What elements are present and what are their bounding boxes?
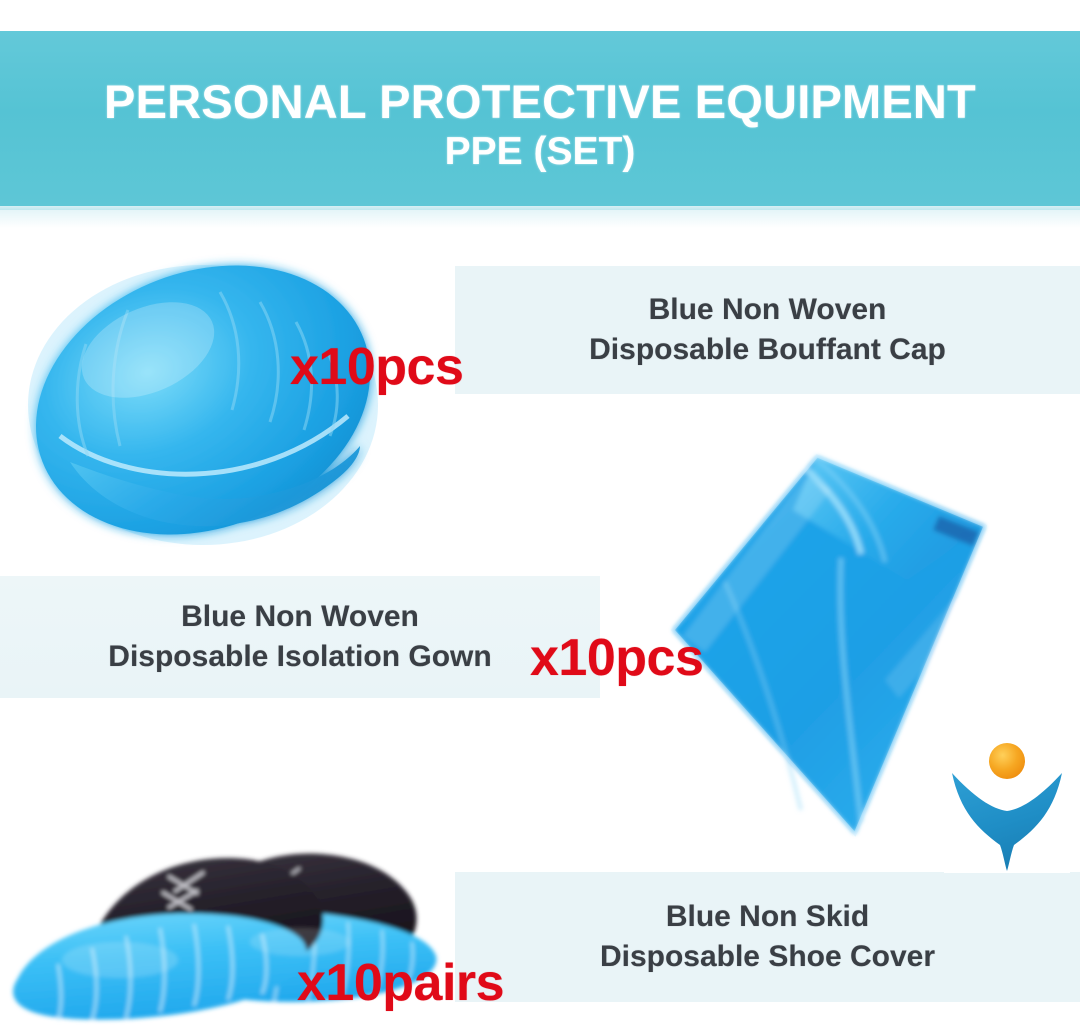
- bouffant-cap-image: [8, 240, 408, 570]
- banner-subtitle: PPE (SET): [445, 131, 636, 174]
- isolation-gown-label-line1: Blue Non Woven: [181, 597, 419, 637]
- shoe-cover-quantity: x10pairs: [297, 953, 504, 1013]
- bouffant-cap-quantity: x10pcs: [290, 337, 463, 397]
- isolation-gown-label-line2: Disposable Isolation Gown: [108, 637, 491, 677]
- bouffant-cap-label-line1: Blue Non Woven: [649, 290, 887, 330]
- banner-title: PERSONAL PROTECTIVE EQUIPMENT: [104, 77, 976, 127]
- brand-logo-icon: [944, 733, 1070, 873]
- bouffant-cap-label-panel: Blue Non Woven Disposable Bouffant Cap: [455, 266, 1080, 394]
- shoe-cover-label-line2: Disposable Shoe Cover: [600, 937, 935, 977]
- isolation-gown-label-panel: Blue Non Woven Disposable Isolation Gown: [0, 576, 600, 698]
- ppe-set-poster: PERSONAL PROTECTIVE EQUIPMENT PPE (SET): [0, 0, 1080, 1025]
- bouffant-cap-label-line2: Disposable Bouffant Cap: [589, 330, 946, 370]
- isolation-gown-quantity: x10pcs: [530, 628, 703, 688]
- header-banner: PERSONAL PROTECTIVE EQUIPMENT PPE (SET): [0, 31, 1080, 210]
- shoe-cover-label-line1: Blue Non Skid: [666, 897, 869, 937]
- shoe-cover-label-panel: Blue Non Skid Disposable Shoe Cover: [455, 872, 1080, 1002]
